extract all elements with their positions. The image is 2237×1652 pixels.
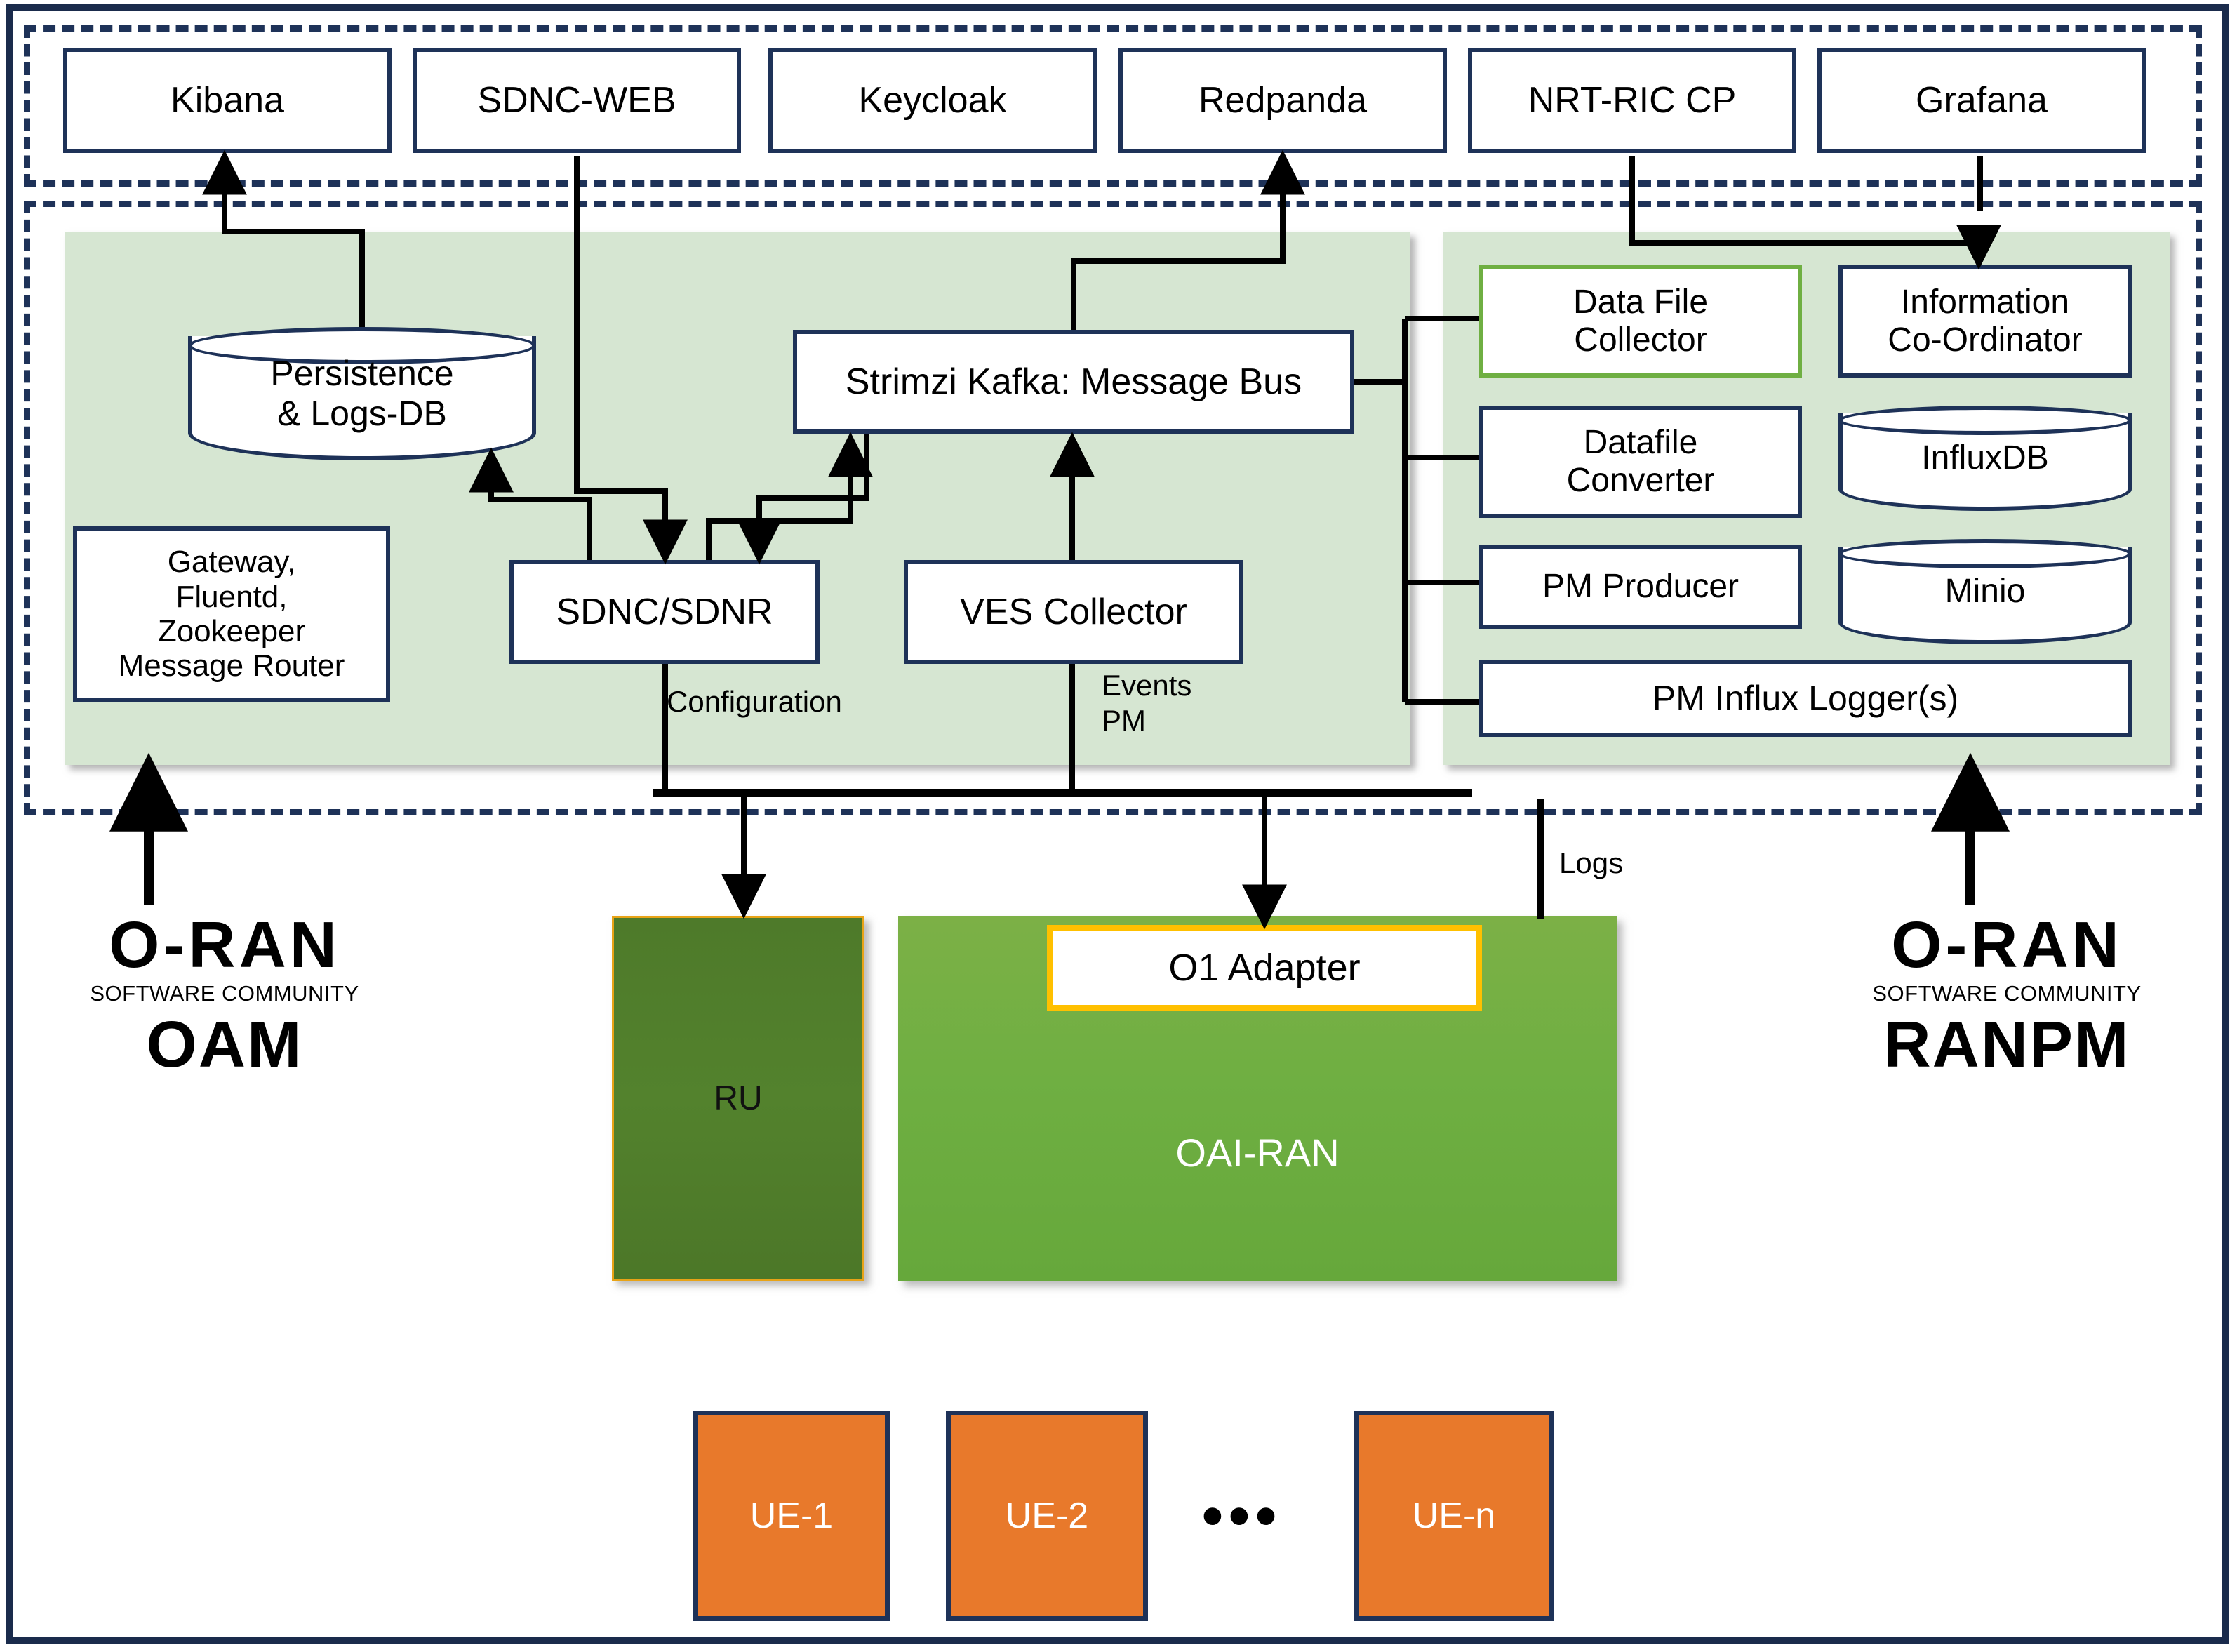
diagram-canvas: Kibana SDNC-WEB Keycloak Redpanda NRT-RI… [0, 0, 2237, 1652]
minio-cylinder[interactable]: Minio [1838, 539, 2132, 644]
datafile-converter-box[interactable]: Datafile Converter [1479, 406, 1802, 518]
app-box-nrt-ric-cp[interactable]: NRT-RIC CP [1468, 48, 1796, 153]
oran-ranpm-logo: O-RAN SOFTWARE COMMUNITY RANPM [1824, 912, 2189, 1079]
data-file-collector-box[interactable]: Data File Collector [1479, 265, 1802, 378]
pm-influx-logger-label: PM Influx Logger(s) [1652, 679, 1958, 718]
edge-label-logs: Logs [1559, 846, 1623, 881]
pm-producer-label: PM Producer [1542, 568, 1739, 606]
oai-ran-label: OAI-RAN [898, 1130, 1617, 1175]
gateway-fluentd-zookeeper-box[interactable]: Gateway, Fluentd, Zookeeper Message Rout… [73, 526, 390, 702]
ue-ellipsis: ••• [1186, 1477, 1298, 1554]
ves-collector-label: VES Collector [960, 592, 1187, 632]
app-box-kibana-label: Kibana [171, 80, 284, 121]
strimzi-kafka-label: Strimzi Kafka: Message Bus [846, 361, 1302, 402]
sdnc-sdnr-label: SDNC/SDNR [556, 592, 773, 632]
ru-block[interactable]: RU [612, 916, 864, 1281]
ue-block-1[interactable]: UE-1 [693, 1411, 890, 1621]
app-box-kibana[interactable]: Kibana [63, 48, 392, 153]
app-box-redpanda[interactable]: Redpanda [1118, 48, 1447, 153]
ue-block-n[interactable]: UE-n [1354, 1411, 1554, 1621]
sdnc-sdnr-box[interactable]: SDNC/SDNR [509, 560, 820, 664]
pm-influx-logger-box[interactable]: PM Influx Logger(s) [1479, 660, 2132, 737]
oran-ranpm-logo-line3: RANPM [1824, 1011, 2189, 1079]
app-box-grafana-label: Grafana [1916, 80, 2048, 121]
oran-ranpm-logo-line2: SOFTWARE COMMUNITY [1824, 978, 2189, 1011]
oran-ranpm-logo-line1: O-RAN [1824, 912, 2189, 978]
influxdb-label: InfluxDB [1838, 406, 2132, 511]
oran-oam-logo-line2: SOFTWARE COMMUNITY [42, 978, 407, 1011]
ue-block-2-label: UE-2 [1006, 1495, 1088, 1537]
persistence-logs-db-label: Persistence & Logs-DB [188, 327, 536, 460]
ue-block-n-label: UE-n [1413, 1495, 1495, 1537]
pm-producer-box[interactable]: PM Producer [1479, 545, 1802, 629]
app-box-sdnc-web[interactable]: SDNC-WEB [413, 48, 741, 153]
strimzi-kafka-box[interactable]: Strimzi Kafka: Message Bus [793, 330, 1354, 434]
ue-block-1-label: UE-1 [750, 1495, 833, 1537]
datafile-converter-label: Datafile Converter [1567, 424, 1715, 500]
app-box-grafana[interactable]: Grafana [1817, 48, 2146, 153]
ue-block-2[interactable]: UE-2 [946, 1411, 1148, 1621]
app-box-nrt-ric-cp-label: NRT-RIC CP [1528, 80, 1737, 121]
ru-label: RU [714, 1079, 762, 1118]
o1-adapter-label: O1 Adapter [1168, 946, 1360, 990]
minio-label: Minio [1838, 539, 2132, 644]
oran-oam-logo: O-RAN SOFTWARE COMMUNITY OAM [42, 912, 407, 1079]
influxdb-cylinder[interactable]: InfluxDB [1838, 406, 2132, 511]
edge-label-events-pm: Events PM [1102, 668, 1191, 739]
edge-label-configuration: Configuration [667, 684, 842, 719]
app-box-keycloak[interactable]: Keycloak [768, 48, 1097, 153]
gateway-fluentd-zookeeper-label: Gateway, Fluentd, Zookeeper Message Rout… [119, 545, 345, 683]
ves-collector-box[interactable]: VES Collector [904, 560, 1243, 664]
oran-oam-logo-line3: OAM [42, 1011, 407, 1079]
data-file-collector-label: Data File Collector [1573, 284, 1708, 359]
app-box-keycloak-label: Keycloak [859, 80, 1007, 121]
oran-oam-logo-line1: O-RAN [42, 912, 407, 978]
information-coordinator-label: Information Co-Ordinator [1888, 284, 2082, 359]
app-box-sdnc-web-label: SDNC-WEB [477, 80, 676, 121]
app-box-redpanda-label: Redpanda [1198, 80, 1367, 121]
persistence-logs-db[interactable]: Persistence & Logs-DB [188, 327, 536, 460]
information-coordinator-box[interactable]: Information Co-Ordinator [1838, 265, 2132, 378]
o1-adapter-box[interactable]: O1 Adapter [1047, 925, 1482, 1011]
